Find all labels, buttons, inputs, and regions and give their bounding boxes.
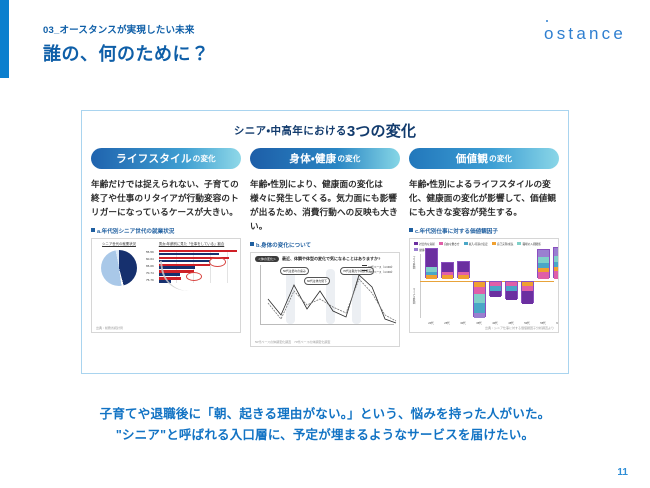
change-columns: ライフスタイルの変化 年齢だけでは捉えられない、子育ての終了や仕事のリタイアが行… (82, 141, 568, 347)
highlight-ellipse (209, 257, 226, 267)
bullet-square-icon (91, 228, 95, 232)
legend-item: 社会的な貢献 (414, 242, 435, 246)
stacked-bar (457, 261, 470, 278)
caption-lifestyle-text: a.年代別シニア世代の就業状況 (97, 229, 174, 235)
callout-bubble: 50代は節々の痛み (280, 267, 309, 275)
thumb-a-source: 出典：総務省統計局 (96, 326, 123, 330)
legend-item: 収入・待遇の安定 (464, 242, 488, 246)
page-number: 11 (617, 467, 628, 478)
axis-label-positive: プラス要因 (411, 256, 415, 269)
logo-text: ostance (544, 24, 626, 43)
stacked-bar (537, 249, 550, 278)
pill-health: 身体・健康の変化 (250, 148, 400, 169)
column-lifestyle: ライフスタイルの変化 年齢だけでは捉えられない、子育ての終了や仕事のリタイアが行… (91, 148, 241, 347)
horizontal-bar-group: 55-59 60-64 65-69 (146, 250, 237, 283)
thumb-b-header: ＜体の変化＞ 最近、体調や体型の変化で気になることはありますか? (251, 253, 399, 262)
thumb-a-bar-title: 男女・年齢別に見た「仕事をしている」割合 (146, 241, 237, 246)
pill-values-tail: の変化 (489, 153, 512, 164)
thumbnail-chart-b[interactable]: ＜体の変化＞ 最近、体調や体型の変化で気になることはありますか? 50代は節々の… (250, 252, 400, 347)
line-chart-legend: 50代ベース（n=300） 70代ベース（n=300） (362, 265, 394, 275)
stacked-bar (553, 247, 559, 278)
pie-chart (101, 250, 137, 286)
thumb-b-tag: ＜体の変化＞ (255, 256, 279, 262)
stacked-bar (441, 262, 454, 278)
panel-heading: シニア・中高年における3つの変化 (82, 120, 568, 141)
legend-item: 自己実現・成長 (492, 242, 514, 246)
thumb-a-body: シニア世代の就業状況 男女・年齢別に見た「仕事をしている」割合 5 (92, 239, 240, 286)
caption-health-text: b.身体の変化について (256, 243, 311, 249)
pill-lifestyle-tail: の変化 (193, 153, 216, 164)
thumb-b-footnote: 50代ベースの体調変化調査 70代ベースの体調変化調査 (255, 340, 330, 344)
column-values: 価値観の変化 年齢・性別によるライフスタイルの変化、健康面の変化が影響して、価値… (409, 148, 559, 347)
bullet-square-icon (250, 242, 254, 246)
pill-health-strong: 身体・健康 (289, 151, 336, 166)
blurb-health: 年齢・性別により、健康面の変化は様々に発生してくる。気力面にも影響が出るため、消… (250, 178, 400, 234)
page-title: 誰の、何のために？ (43, 40, 210, 66)
stacked-bar (473, 281, 486, 317)
logo-dot-icon (546, 20, 548, 22)
pill-lifestyle: ライフスタイルの変化 (91, 148, 241, 169)
line-chart-plot: 50代は節々の痛み 60代は体力低下 70代は聴力や視覚低下 50代ベース（n=… (260, 265, 394, 331)
slide-eyebrow: 03_オースタンスが実現したい未来 (43, 22, 195, 36)
thumb-c-footnote: 出典：シニア仕事に対する価値観因子分析調査より (485, 326, 554, 330)
column-health: 身体・健康の変化 年齢・性別により、健康面の変化は様々に発生してくる。気力面にも… (250, 148, 400, 347)
pill-values: 価値観の変化 (409, 148, 559, 169)
axis-tick-label: 20代 (423, 322, 439, 325)
conclusion-line-2: "シニア"と呼ばれる入口層に、予定が埋まるようなサービスを届けたい。 (0, 425, 650, 446)
legend-item: 自由な働き方 (439, 242, 460, 246)
axis-label-negative: マイナス要因 (411, 288, 415, 304)
panel-heading-lead: シニア・中高年における (234, 125, 347, 137)
stacked-bar (425, 248, 438, 278)
conclusion-line-1: 子育てや退職後に「朝、起きる理由がない。」という、悩みを持った人がいた。 (0, 404, 650, 425)
thumbnail-chart-a[interactable]: シニア世代の就業状況 男女・年齢別に見た「仕事をしている」割合 5 (91, 238, 241, 333)
blurb-values: 年齢・性別によるライフスタイルの変化、健康面の変化が影響して、価値観にも大きな変… (409, 178, 559, 220)
stacked-bar (489, 281, 502, 296)
pill-lifestyle-strong: ライフスタイル (116, 151, 192, 166)
ostance-logo: ostance (544, 24, 626, 44)
axis-tick-label: 30代 (455, 322, 471, 325)
highlight-ellipse (186, 272, 202, 281)
thumb-a-pie-area: シニア世代の就業状況 (95, 241, 143, 286)
thumb-a-pie-title: シニア世代の就業状況 (95, 241, 143, 246)
callout-bubble: 60代は体力低下 (304, 277, 330, 285)
caption-health: b.身体の変化について (250, 241, 400, 249)
content-panel: シニア・中高年における3つの変化 ライフスタイルの変化 年齢だけでは捉えられない… (81, 110, 569, 374)
legend-item: 職場の人間関係 (517, 242, 540, 246)
stacked-bar (505, 281, 518, 299)
pill-health-tail: の変化 (337, 153, 360, 164)
caption-values-text: c.年代別仕事に対する価値観因子 (415, 229, 498, 235)
caption-values: c.年代別仕事に対する価値観因子 (409, 227, 559, 235)
blurb-lifestyle: 年齢だけでは捉えられない、子育ての終了や仕事のリタイアが行動変容のトリガーになっ… (91, 178, 241, 220)
panel-heading-emphasis: 3つの変化 (347, 123, 416, 140)
stacked-bar (521, 281, 534, 303)
thumbnail-chart-c[interactable]: 社会的な貢献 自由な働き方 収入・待遇の安定 自己実現・成長 職場の人間関係 健… (409, 238, 559, 333)
stacked-bar-plot: プラス要因 マイナス要因 (420, 254, 554, 326)
left-accent-bar (0, 0, 9, 78)
thumb-a-bar-area: 男女・年齢別に見た「仕事をしている」割合 55-59 (146, 241, 237, 286)
axis-tick-label: 25代 (439, 322, 455, 325)
pill-values-strong: 価値観 (456, 151, 488, 166)
bullet-square-icon (409, 228, 413, 232)
thumb-b-question: 最近、体調や体型の変化で気になることはありますか? (282, 256, 380, 262)
conclusion-text: 子育てや退職後に「朝、起きる理由がない。」という、悩みを持った人がいた。 "シニ… (0, 404, 650, 445)
caption-lifestyle: a.年代別シニア世代の就業状況 (91, 227, 241, 235)
